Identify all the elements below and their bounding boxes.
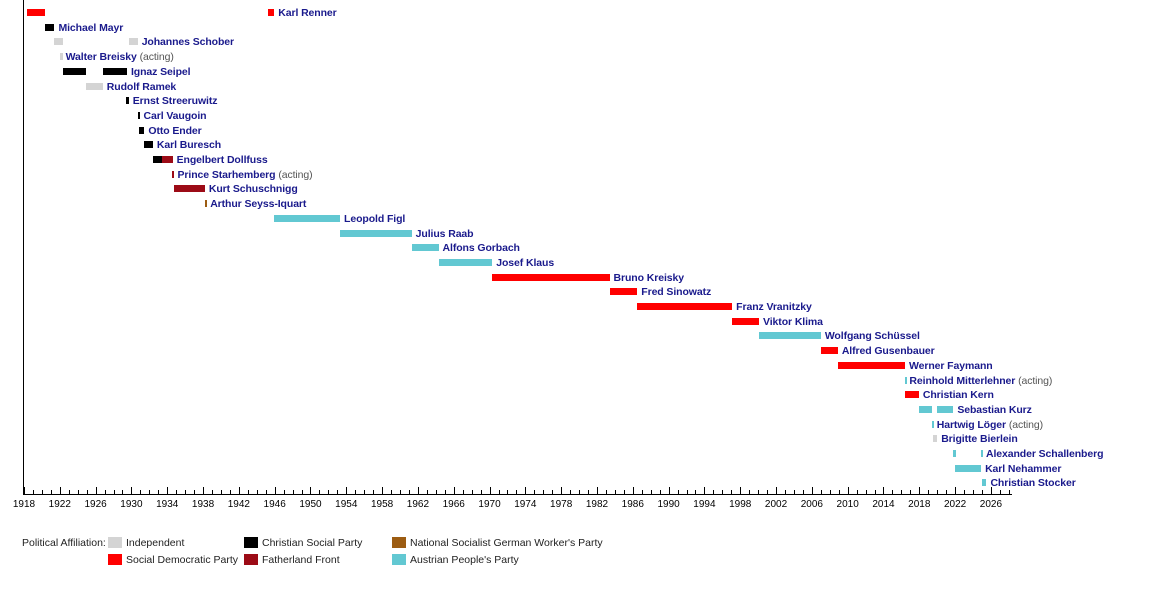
chancellor-name: Christian Kern — [923, 389, 994, 401]
timeline-row-label: Arthur Seyss-Iquart — [210, 198, 306, 210]
timeline-bar[interactable] — [937, 406, 953, 413]
timeline-row-label: Rudolf Ramek — [107, 81, 176, 93]
x-axis-minor-tick — [534, 490, 535, 494]
timeline-bar[interactable] — [174, 185, 205, 192]
chancellor-name: Ignaz Seipel — [131, 66, 190, 78]
x-axis-minor-tick — [221, 490, 222, 494]
timeline-bar[interactable] — [610, 288, 638, 295]
chancellor-name: Josef Klaus — [496, 257, 554, 269]
x-axis-minor-tick — [122, 490, 123, 494]
legend-swatch — [244, 554, 258, 565]
x-axis-line — [23, 494, 1012, 495]
timeline-row-label: Reinhold Mitterlehner (acting) — [909, 375, 1052, 387]
timeline-row-label: Alfons Gorbach — [443, 242, 520, 254]
x-axis-minor-tick — [373, 490, 374, 494]
timeline-bar[interactable] — [492, 274, 609, 281]
x-axis-minor-tick — [767, 490, 768, 494]
legend-swatch — [392, 537, 406, 548]
x-axis-tick-label: 2026 — [971, 499, 1011, 510]
x-axis-minor-tick — [319, 490, 320, 494]
legend-label: Christian Social Party — [262, 537, 362, 549]
x-axis-minor-tick — [588, 490, 589, 494]
chart-legend: Political Affiliation: IndependentSocial… — [0, 530, 1150, 585]
timeline-row[interactable]: Karl Nehammer — [0, 461, 1150, 476]
timeline-bar[interactable] — [340, 230, 412, 237]
timeline-row-label: Brigitte Bierlein — [941, 433, 1017, 445]
timeline-row-label: Franz Vranitzky — [736, 301, 812, 313]
timeline-row-label: Prince Starhemberg (acting) — [178, 169, 313, 181]
timeline-row[interactable]: Viktor Klima — [0, 314, 1150, 329]
timeline-bar[interactable] — [439, 259, 493, 266]
chancellor-name: Christian Stocker — [990, 477, 1075, 489]
timeline-row[interactable]: Prince Starhemberg (acting) — [0, 167, 1150, 182]
chancellor-name: Michael Mayr — [58, 22, 123, 34]
timeline-bar[interactable] — [139, 127, 144, 134]
timeline-bar[interactable] — [54, 38, 63, 45]
x-axis-minor-tick — [982, 490, 983, 494]
acting-annotation: (acting) — [1006, 419, 1043, 431]
chancellor-name: Alfons Gorbach — [443, 242, 520, 254]
x-axis-minor-tick — [87, 490, 88, 494]
x-axis-tick-label: 2010 — [828, 499, 868, 510]
x-axis-minor-tick — [51, 490, 52, 494]
chancellor-name: Prince Starhemberg — [178, 169, 276, 181]
timeline-bar[interactable] — [162, 156, 173, 163]
timeline-row[interactable]: Julius Raab — [0, 226, 1150, 241]
x-axis-tick-label: 2018 — [899, 499, 939, 510]
timeline-row[interactable]: Hartwig Löger (acting) — [0, 417, 1150, 432]
timeline-row[interactable]: Michael Mayr — [0, 20, 1150, 35]
x-axis-tick-label: 2006 — [792, 499, 832, 510]
x-axis-tick-label: 1938 — [183, 499, 223, 510]
x-axis-minor-tick — [140, 490, 141, 494]
x-axis-minor-tick — [42, 490, 43, 494]
timeline-row[interactable]: Fred Sinowatz — [0, 284, 1150, 299]
x-axis-minor-tick — [928, 490, 929, 494]
x-axis-minor-tick — [364, 490, 365, 494]
chancellor-name: Alfred Gusenbauer — [842, 345, 935, 357]
x-axis-minor-tick — [615, 490, 616, 494]
x-axis-minor-tick — [391, 490, 392, 494]
timeline-row-label: Alexander Schallenberg — [986, 448, 1103, 460]
timeline-row[interactable]: Alfred Gusenbauer — [0, 343, 1150, 358]
x-axis-tick-label: 1962 — [398, 499, 438, 510]
chancellor-name: Johannes Schober — [142, 36, 234, 48]
timeline-bar[interactable] — [86, 83, 103, 90]
x-axis-tick-label: 1946 — [255, 499, 295, 510]
timeline-row[interactable]: Johannes Schober — [0, 34, 1150, 49]
chancellor-name: Franz Vranitzky — [736, 301, 812, 313]
acting-annotation: (acting) — [137, 51, 174, 63]
timeline-bar[interactable] — [933, 435, 937, 442]
x-axis-minor-tick — [445, 490, 446, 494]
timeline-row-label: Ernst Streeruwitz — [133, 95, 218, 107]
timeline-row-label: Michael Mayr — [58, 22, 123, 34]
timeline-row[interactable]: Walter Breisky (acting) — [0, 49, 1150, 64]
x-axis-minor-tick — [695, 490, 696, 494]
x-axis-minor-tick — [758, 490, 759, 494]
timeline-row[interactable]: Christian Stocker — [0, 475, 1150, 490]
timeline-row-label: Kurt Schuschnigg — [209, 183, 298, 195]
timeline-row-label: Fred Sinowatz — [641, 286, 711, 298]
timeline-row-label: Christian Stocker — [990, 477, 1075, 489]
x-axis-minor-tick — [266, 490, 267, 494]
chancellor-name: Rudolf Ramek — [107, 81, 176, 93]
x-axis-minor-tick — [105, 490, 106, 494]
timeline-row-label: Otto Ender — [148, 125, 201, 137]
timeline-row-label: Ignaz Seipel — [131, 66, 190, 78]
timeline-bar[interactable] — [821, 347, 838, 354]
x-axis-minor-tick — [185, 490, 186, 494]
chancellor-name: Brigitte Bierlein — [941, 433, 1017, 445]
x-axis-minor-tick — [937, 490, 938, 494]
timeline-row-label: Johannes Schober — [142, 36, 234, 48]
x-axis-minor-tick — [794, 490, 795, 494]
x-axis-tick-label: 1982 — [577, 499, 617, 510]
x-axis-tick-label: 1994 — [684, 499, 724, 510]
x-axis-minor-tick — [436, 490, 437, 494]
chancellor-name: Alexander Schallenberg — [986, 448, 1103, 460]
timeline-row-label: Engelbert Dollfuss — [177, 154, 268, 166]
timeline-row[interactable]: Ignaz Seipel — [0, 64, 1150, 79]
x-axis-minor-tick — [257, 490, 258, 494]
chancellor-name: Carl Vaugoin — [143, 110, 206, 122]
timeline-row-label: Walter Breisky (acting) — [66, 51, 174, 63]
chancellor-name: Werner Faymann — [909, 360, 993, 372]
chancellor-name: Julius Raab — [416, 228, 474, 240]
chancellor-name: Viktor Klima — [763, 316, 823, 328]
timeline-bar[interactable] — [138, 112, 140, 119]
legend-title: Political Affiliation: — [22, 537, 106, 549]
chancellor-name: Walter Breisky — [66, 51, 137, 63]
x-axis-tick-label: 1978 — [541, 499, 581, 510]
timeline-row[interactable]: Leopold Figl — [0, 211, 1150, 226]
timeline-bar[interactable] — [144, 141, 153, 148]
timeline-row-label: Julius Raab — [416, 228, 474, 240]
x-axis-minor-tick — [866, 490, 867, 494]
x-axis-minor-tick — [507, 490, 508, 494]
x-axis-minor-tick — [839, 490, 840, 494]
timeline-row[interactable]: Karl Renner — [0, 5, 1150, 20]
timeline-bar[interactable] — [205, 200, 207, 207]
timeline-row-label: Karl Renner — [278, 7, 336, 19]
x-axis-minor-tick — [1000, 490, 1001, 494]
timeline-bar[interactable] — [919, 406, 932, 413]
x-axis-minor-tick — [892, 490, 893, 494]
acting-annotation: (acting) — [276, 169, 313, 181]
legend-label: National Socialist German Worker's Party — [410, 537, 603, 549]
timeline-row[interactable]: Christian Kern — [0, 387, 1150, 402]
x-axis-minor-tick — [230, 490, 231, 494]
x-axis-tick-label: 2014 — [863, 499, 903, 510]
x-axis-minor-tick — [606, 490, 607, 494]
timeline-row[interactable]: Karl Buresch — [0, 137, 1150, 152]
x-axis-minor-tick — [78, 490, 79, 494]
legend-swatch — [108, 554, 122, 565]
x-axis-minor-tick — [212, 490, 213, 494]
x-axis-minor-tick — [114, 490, 115, 494]
x-axis-minor-tick — [651, 490, 652, 494]
chancellor-name: Otto Ender — [148, 125, 201, 137]
x-axis-minor-tick — [33, 490, 34, 494]
timeline-row-label: Hartwig Löger (acting) — [937, 419, 1043, 431]
timeline-row-label: Alfred Gusenbauer — [842, 345, 935, 357]
x-axis-minor-tick — [302, 490, 303, 494]
legend-label: Fatherland Front — [262, 554, 340, 566]
legend-swatch — [392, 554, 406, 565]
timeline-row[interactable]: Rudolf Ramek — [0, 79, 1150, 94]
x-axis-minor-tick — [579, 490, 580, 494]
timeline-bar[interactable] — [412, 244, 439, 251]
timeline-row-label: Karl Buresch — [157, 139, 221, 151]
timeline-row[interactable]: Brigitte Bierlein — [0, 431, 1150, 446]
timeline-bar[interactable] — [637, 303, 732, 310]
x-axis-minor-tick — [830, 490, 831, 494]
chancellor-name: Hartwig Löger — [937, 419, 1006, 431]
x-axis-minor-tick — [552, 490, 553, 494]
timeline-row[interactable]: Franz Vranitzky — [0, 299, 1150, 314]
x-axis-tick-label: 1986 — [613, 499, 653, 510]
timeline-row[interactable]: Reinhold Mitterlehner (acting) — [0, 373, 1150, 388]
x-axis-minor-tick — [149, 490, 150, 494]
x-axis-tick-label: 1990 — [649, 499, 689, 510]
x-axis-tick-label: 1958 — [362, 499, 402, 510]
timeline-row[interactable]: Kurt Schuschnigg — [0, 181, 1150, 196]
x-axis-minor-tick — [472, 490, 473, 494]
x-axis-minor-tick — [400, 490, 401, 494]
timeline-row[interactable]: Alfons Gorbach — [0, 240, 1150, 255]
timeline-row-label: Christian Kern — [923, 389, 994, 401]
timeline-bar[interactable] — [153, 156, 162, 163]
x-axis-minor-tick — [570, 490, 571, 494]
chancellor-name: Bruno Kreisky — [614, 272, 684, 284]
x-axis-minor-tick — [875, 490, 876, 494]
timeline-row[interactable]: Otto Ender — [0, 123, 1150, 138]
x-axis-minor-tick — [69, 490, 70, 494]
timeline-bar[interactable] — [982, 479, 986, 486]
legend-swatch — [244, 537, 258, 548]
x-axis-minor-tick — [481, 490, 482, 494]
chancellors-timeline-chart: 1918192219261930193419381942194619501954… — [0, 0, 1150, 590]
x-axis-minor-tick — [660, 490, 661, 494]
timeline-row[interactable]: Carl Vaugoin — [0, 108, 1150, 123]
x-axis-minor-tick — [731, 490, 732, 494]
timeline-row[interactable]: Werner Faymann — [0, 358, 1150, 373]
x-axis-minor-tick — [946, 490, 947, 494]
acting-annotation: (acting) — [1015, 375, 1052, 387]
x-axis-minor-tick — [901, 490, 902, 494]
x-axis-tick-label: 1930 — [111, 499, 151, 510]
x-axis-minor-tick — [284, 490, 285, 494]
timeline-row[interactable]: Ernst Streeruwitz — [0, 93, 1150, 108]
x-axis-minor-tick — [499, 490, 500, 494]
x-axis-minor-tick — [785, 490, 786, 494]
x-axis-minor-tick — [642, 490, 643, 494]
timeline-bar[interactable] — [732, 318, 759, 325]
timeline-row[interactable]: Engelbert Dollfuss — [0, 152, 1150, 167]
legend-label: Social Democratic Party — [126, 554, 238, 566]
chancellor-name: Fred Sinowatz — [641, 286, 711, 298]
x-axis-minor-tick — [328, 490, 329, 494]
x-axis-minor-tick — [158, 490, 159, 494]
x-axis-minor-tick — [964, 490, 965, 494]
x-axis-minor-tick — [293, 490, 294, 494]
timeline-bar[interactable] — [45, 24, 54, 31]
x-axis-minor-tick — [427, 490, 428, 494]
timeline-row[interactable]: Bruno Kreisky — [0, 270, 1150, 285]
x-axis-tick-label: 1966 — [434, 499, 474, 510]
x-axis-tick-label: 1974 — [505, 499, 545, 510]
timeline-bar[interactable] — [268, 9, 275, 16]
x-axis-minor-tick — [1009, 490, 1010, 494]
chancellor-name: Sebastian Kurz — [957, 404, 1031, 416]
timeline-row[interactable]: Arthur Seyss-Iquart — [0, 196, 1150, 211]
x-axis-minor-tick — [857, 490, 858, 494]
chancellor-name: Leopold Figl — [344, 213, 405, 225]
timeline-plot-area: 1918192219261930193419381942194619501954… — [0, 0, 1150, 500]
chancellor-name: Karl Renner — [278, 7, 336, 19]
x-axis-minor-tick — [749, 490, 750, 494]
x-axis-tick-label: 2022 — [935, 499, 975, 510]
x-axis-tick-label: 1998 — [720, 499, 760, 510]
x-axis-minor-tick — [624, 490, 625, 494]
x-axis-minor-tick — [678, 490, 679, 494]
timeline-row-label: Carl Vaugoin — [143, 110, 206, 122]
x-axis-minor-tick — [176, 490, 177, 494]
timeline-bar[interactable] — [838, 362, 905, 369]
legend-label: Austrian People's Party — [410, 554, 519, 566]
x-axis-minor-tick — [355, 490, 356, 494]
x-axis-minor-tick — [910, 490, 911, 494]
x-axis-minor-tick — [409, 490, 410, 494]
chancellor-name: Karl Buresch — [157, 139, 221, 151]
x-axis-minor-tick — [194, 490, 195, 494]
chancellor-name: Ernst Streeruwitz — [133, 95, 218, 107]
timeline-row-label: Leopold Figl — [344, 213, 405, 225]
timeline-bar[interactable] — [274, 215, 340, 222]
x-axis-minor-tick — [337, 490, 338, 494]
chancellor-name: Reinhold Mitterlehner — [909, 375, 1015, 387]
chancellor-name: Kurt Schuschnigg — [209, 183, 298, 195]
legend-label: Independent — [126, 537, 184, 549]
x-axis-tick-label: 1922 — [40, 499, 80, 510]
timeline-bar[interactable] — [129, 38, 138, 45]
x-axis-minor-tick — [463, 490, 464, 494]
timeline-bar[interactable] — [932, 421, 934, 428]
x-axis-minor-tick — [722, 490, 723, 494]
x-axis-minor-tick — [973, 490, 974, 494]
timeline-bar[interactable] — [955, 465, 981, 472]
chancellor-name: Wolfgang Schüssel — [825, 330, 920, 342]
x-axis-tick-label: 2002 — [756, 499, 796, 510]
timeline-row-label: Karl Nehammer — [985, 463, 1061, 475]
timeline-row[interactable]: Wolfgang Schüssel — [0, 328, 1150, 343]
x-axis-minor-tick — [248, 490, 249, 494]
timeline-bar[interactable] — [905, 391, 918, 398]
timeline-row-label: Bruno Kreisky — [614, 272, 684, 284]
timeline-row-label: Sebastian Kurz — [957, 404, 1031, 416]
timeline-row[interactable]: Josef Klaus — [0, 255, 1150, 270]
chancellor-name: Arthur Seyss-Iquart — [210, 198, 306, 210]
timeline-row-label: Wolfgang Schüssel — [825, 330, 920, 342]
x-axis-minor-tick — [516, 490, 517, 494]
timeline-row[interactable]: Alexander Schallenberg — [0, 446, 1150, 461]
x-axis-tick-label: 1934 — [147, 499, 187, 510]
timeline-bar[interactable] — [905, 377, 907, 384]
x-axis-tick-label: 1954 — [326, 499, 366, 510]
timeline-row-label: Viktor Klima — [763, 316, 823, 328]
x-axis-tick-label: 1926 — [76, 499, 116, 510]
legend-swatch — [108, 537, 122, 548]
timeline-bar[interactable] — [103, 68, 127, 75]
timeline-bar[interactable] — [759, 332, 821, 339]
x-axis-tick-label: 1942 — [219, 499, 259, 510]
timeline-bar[interactable] — [126, 97, 129, 104]
x-axis-minor-tick — [803, 490, 804, 494]
x-axis-tick-label: 1950 — [290, 499, 330, 510]
timeline-bar[interactable] — [953, 450, 955, 457]
chancellor-name: Karl Nehammer — [985, 463, 1061, 475]
timeline-bar[interactable] — [60, 53, 62, 60]
timeline-row-label: Werner Faymann — [909, 360, 993, 372]
x-axis-tick-label: 1918 — [4, 499, 44, 510]
x-axis-minor-tick — [821, 490, 822, 494]
timeline-bar[interactable] — [981, 450, 983, 457]
x-axis-minor-tick — [543, 490, 544, 494]
timeline-row[interactable]: Sebastian Kurz — [0, 402, 1150, 417]
x-axis-minor-tick — [687, 490, 688, 494]
x-axis-tick-label: 1970 — [470, 499, 510, 510]
timeline-row-label: Josef Klaus — [496, 257, 554, 269]
timeline-bar[interactable] — [63, 68, 85, 75]
chancellor-name: Engelbert Dollfuss — [177, 154, 268, 166]
timeline-bar[interactable] — [172, 171, 174, 178]
x-axis-minor-tick — [713, 490, 714, 494]
timeline-bar[interactable] — [27, 9, 46, 16]
